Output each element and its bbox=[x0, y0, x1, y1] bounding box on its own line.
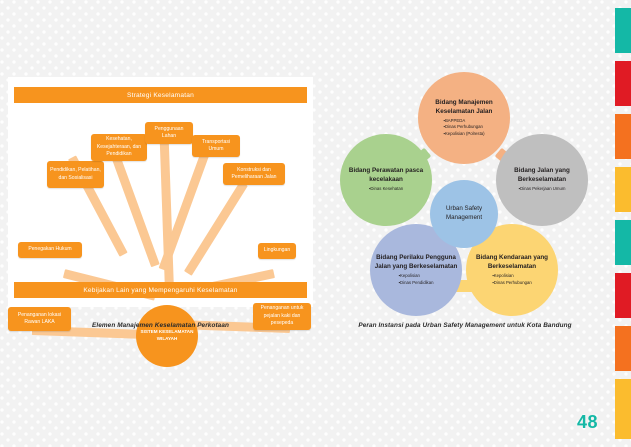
agency-item: Dinas Pendidikan bbox=[399, 280, 434, 286]
edge-color-stripe bbox=[615, 0, 631, 447]
circle-title: Bidang Kendaraan yang Berkeselamatan bbox=[470, 254, 554, 271]
edge-bar-8 bbox=[615, 379, 631, 439]
hub-label: SISTEM KESELAMATAN WILAYAH bbox=[136, 329, 198, 343]
chip-label: Konstruksi dan Pemeliharaan Jalan bbox=[226, 167, 282, 182]
policy-band: Kebijakan Lain yang Mempengaruhi Keselam… bbox=[14, 282, 307, 298]
circle-agency-list: Kepolisian Dinas Perhubungan bbox=[492, 273, 532, 285]
edge-bar-2 bbox=[615, 61, 631, 106]
edge-bar-1 bbox=[615, 8, 631, 53]
edge-bar-5 bbox=[615, 220, 631, 265]
right-diagram: Bidang Manajemen Keselamatan Jalan BAPPE… bbox=[326, 72, 606, 317]
chip-label: Transportasi Umum bbox=[195, 139, 237, 154]
hub-circle: SISTEM KESELAMATAN WILAYAH bbox=[136, 305, 198, 367]
agency-item: Kepolisian (Polresta) bbox=[443, 131, 484, 137]
left-diagram-caption: Elemen Manajemen Keselamatan Perkotaan bbox=[8, 322, 313, 329]
circle-agency-list: Kepolisian Dinas Pendidikan bbox=[399, 273, 434, 285]
circle-agency-list: Dinas Kesehatan bbox=[369, 186, 403, 192]
chip-label: Penegakan Hukum bbox=[28, 246, 71, 253]
chip-konstruksi-pemeliharaan-jalan[interactable]: Konstruksi dan Pemeliharaan Jalan bbox=[223, 163, 285, 185]
slide-canvas: Strategi Keselamatan SISTEM KESELAMATAN … bbox=[0, 0, 631, 447]
chip-penegakan-hukum[interactable]: Penegakan Hukum bbox=[18, 242, 82, 258]
left-diagram-panel: Strategi Keselamatan SISTEM KESELAMATAN … bbox=[8, 77, 313, 307]
chip-lingkungan[interactable]: Lingkungan bbox=[258, 243, 296, 259]
edge-bar-6 bbox=[615, 273, 631, 318]
chip-label: Penggunaan Lahan bbox=[148, 126, 190, 141]
agency-item: Dinas Kesehatan bbox=[369, 186, 403, 192]
chip-label: Kesehatan, Kesejahteraan, dan Pendidikan bbox=[94, 136, 144, 158]
circle-title: Bidang Jalan yang Berkeselamatan bbox=[500, 167, 584, 184]
agency-item: Dinas Pekerjaan Umum bbox=[519, 186, 566, 192]
circle-title: Bidang Manajemen Keselamatan Jalan bbox=[422, 99, 506, 116]
circle-bidang-perawatan-pasca-kecelakaan[interactable]: Bidang Perawatan pasca kecelakaan Dinas … bbox=[340, 134, 432, 226]
center-label: Urban Safety Management bbox=[430, 205, 498, 223]
chip-pendidikan-pelatihan-sosialisasi[interactable]: Pendidikan, Pelatihan, dan Sosialisasi bbox=[47, 161, 104, 188]
page-number: 48 bbox=[577, 412, 598, 433]
chip-kesehatan-kesejahteraan-pendidikan[interactable]: Kesehatan, Kesejahteraan, dan Pendidikan bbox=[91, 134, 147, 161]
chip-transportasi-umum[interactable]: Transportasi Umum bbox=[192, 135, 240, 157]
circle-urban-safety-management[interactable]: Urban Safety Management bbox=[430, 180, 498, 248]
agency-item: Dinas Perhubungan bbox=[443, 124, 484, 130]
chip-label: Pendidikan, Pelatihan, dan Sosialisasi bbox=[50, 167, 101, 182]
circle-title: Bidang Perawatan pasca kecelakaan bbox=[344, 167, 428, 184]
circle-title: Bidang Perilaku Pengguna Jalan yang Berk… bbox=[374, 254, 458, 271]
edge-bar-3 bbox=[615, 114, 631, 159]
circle-bidang-manajemen-keselamatan-jalan[interactable]: Bidang Manajemen Keselamatan Jalan BAPPE… bbox=[418, 72, 510, 164]
edge-bar-4 bbox=[615, 167, 631, 212]
circle-bidang-jalan-yang-berkeselamatan[interactable]: Bidang Jalan yang Berkeselamatan Dinas P… bbox=[496, 134, 588, 226]
strategy-band: Strategi Keselamatan bbox=[14, 87, 307, 103]
circle-agency-list: Dinas Pekerjaan Umum bbox=[519, 186, 566, 192]
agency-item: Dinas Perhubungan bbox=[492, 280, 532, 286]
chip-penggunaan-lahan[interactable]: Penggunaan Lahan bbox=[145, 122, 193, 144]
edge-bar-7 bbox=[615, 326, 631, 371]
chip-label: Lingkungan bbox=[264, 247, 290, 254]
right-diagram-caption: Peran Instansi pada Urban Safety Managem… bbox=[330, 322, 600, 329]
circle-agency-list: BAPPEDA Dinas Perhubungan Kepolisian (Po… bbox=[443, 118, 484, 137]
